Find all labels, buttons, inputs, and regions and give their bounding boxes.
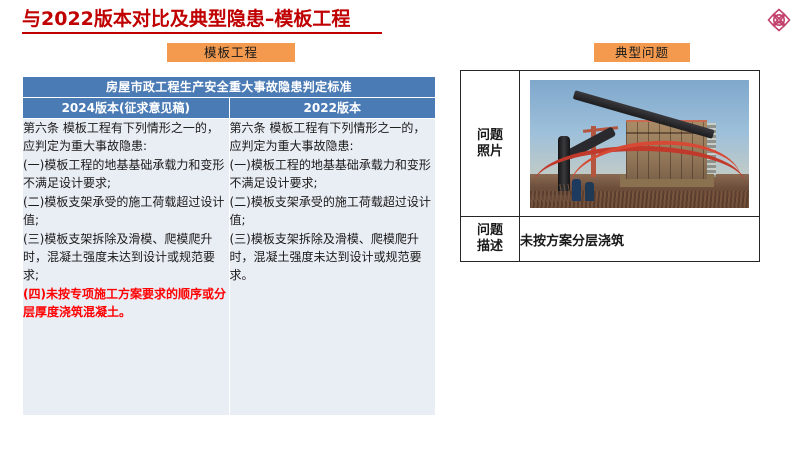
badge-template-engineering: 模板工程 bbox=[167, 43, 295, 62]
clause-2022-2: (二)模板支架承受的施工荷载超过设计值; bbox=[230, 193, 436, 229]
problem-photo-label-line1: 问题 bbox=[461, 128, 519, 144]
column-header-2022: 2022版本 bbox=[229, 98, 436, 119]
photo-worker-2 bbox=[585, 182, 594, 201]
typical-problem-table: 问题 照片 bbox=[460, 70, 760, 262]
page-title: 与2022版本对比及典型隐患–模板工程 bbox=[22, 8, 382, 34]
problem-photo-label: 问题 照片 bbox=[461, 71, 520, 217]
clause-2022-0: 第六条 模板工程有下列情形之一的，应判定为重大事故隐患: bbox=[230, 119, 436, 155]
table-main-header: 房屋市政工程生产安全重大事故隐患判定标准 bbox=[23, 77, 436, 98]
clause-2024-2: (二)模板支架承受的施工荷载超过设计值; bbox=[23, 193, 229, 229]
construction-site-photo bbox=[530, 80, 749, 208]
clause-2024-3: (三)模板支架拆除及滑模、爬模爬升时，混凝土强度未达到设计或规范要求; bbox=[23, 230, 229, 284]
table-subheader-row: 2024版本(征求意见稿) 2022版本 bbox=[23, 98, 436, 119]
table-header-row: 房屋市政工程生产安全重大事故隐患判定标准 bbox=[23, 77, 436, 98]
problem-photo-label-line2: 照片 bbox=[461, 144, 519, 160]
column-header-2024: 2024版本(征求意见稿) bbox=[23, 98, 230, 119]
problem-description-label-line1: 问题 bbox=[461, 223, 519, 239]
photo-worker-1 bbox=[572, 179, 581, 201]
clause-2022-1: (一)模板工程的地基基础承载力和变形不满足设计要求; bbox=[230, 156, 436, 192]
badge-typical-problem: 典型问题 bbox=[594, 43, 690, 62]
problem-description-row: 问题 描述 未按方案分层浇筑 bbox=[461, 217, 760, 262]
clause-2022-3: (三)模板支架拆除及滑模、爬模爬升时，混凝土强度未达到设计或规范要求。 bbox=[230, 230, 436, 284]
clause-2024-1: (一)模板工程的地基基础承载力和变形不满足设计要求; bbox=[23, 156, 229, 192]
problem-photo-row: 问题 照片 bbox=[461, 71, 760, 217]
page-title-text: 与2022版本对比及典型隐患–模板工程 bbox=[22, 8, 382, 30]
problem-description-label: 问题 描述 bbox=[461, 217, 520, 262]
comparison-table: 房屋市政工程生产安全重大事故隐患判定标准 2024版本(征求意见稿) 2022版… bbox=[22, 76, 436, 416]
problem-photo-cell bbox=[520, 71, 760, 217]
clause-2024-4-highlighted: (四)未按专项施工方案要求的顺序或分层厚度浇筑混凝土。 bbox=[23, 285, 229, 321]
problem-description-text: 未按方案分层浇筑 bbox=[520, 217, 760, 262]
company-round-logo: G bbox=[766, 7, 792, 33]
table-body-row: 第六条 模板工程有下列情形之一的，应判定为重大事故隐患: (一)模板工程的地基基… bbox=[23, 119, 436, 416]
problem-description-label-line2: 描述 bbox=[461, 239, 519, 255]
cell-version-2024: 第六条 模板工程有下列情形之一的，应判定为重大事故隐患: (一)模板工程的地基基… bbox=[23, 119, 230, 416]
photo-rebar-left bbox=[530, 184, 578, 202]
cell-version-2022: 第六条 模板工程有下列情形之一的，应判定为重大事故隐患: (一)模板工程的地基基… bbox=[229, 119, 436, 416]
clause-2024-0: 第六条 模板工程有下列情形之一的，应判定为重大事故隐患: bbox=[23, 119, 229, 155]
svg-text:G: G bbox=[776, 18, 782, 26]
